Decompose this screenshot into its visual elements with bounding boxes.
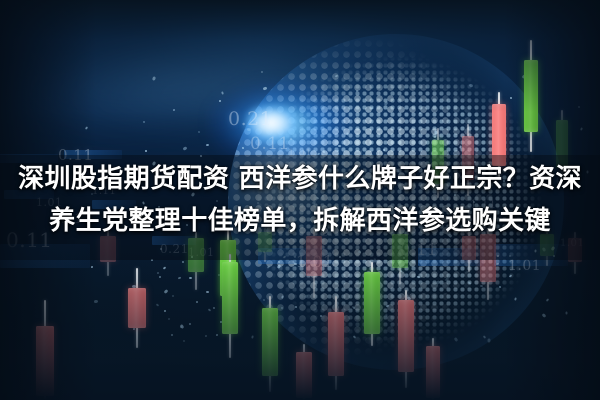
- page-title: 深圳股指期货配资 西洋参什么牌子好正宗？资深 养生党整理十佳榜单，拆解西洋参选购…: [0, 158, 600, 242]
- title-line-2: 养生党整理十佳榜单，拆解西洋参选购关键: [14, 200, 586, 242]
- image-canvas: 0.110.110.111.011.110.210.111.011.110.11…: [0, 0, 600, 400]
- title-line-1: 深圳股指期货配资 西洋参什么牌子好正宗？资深: [14, 158, 586, 200]
